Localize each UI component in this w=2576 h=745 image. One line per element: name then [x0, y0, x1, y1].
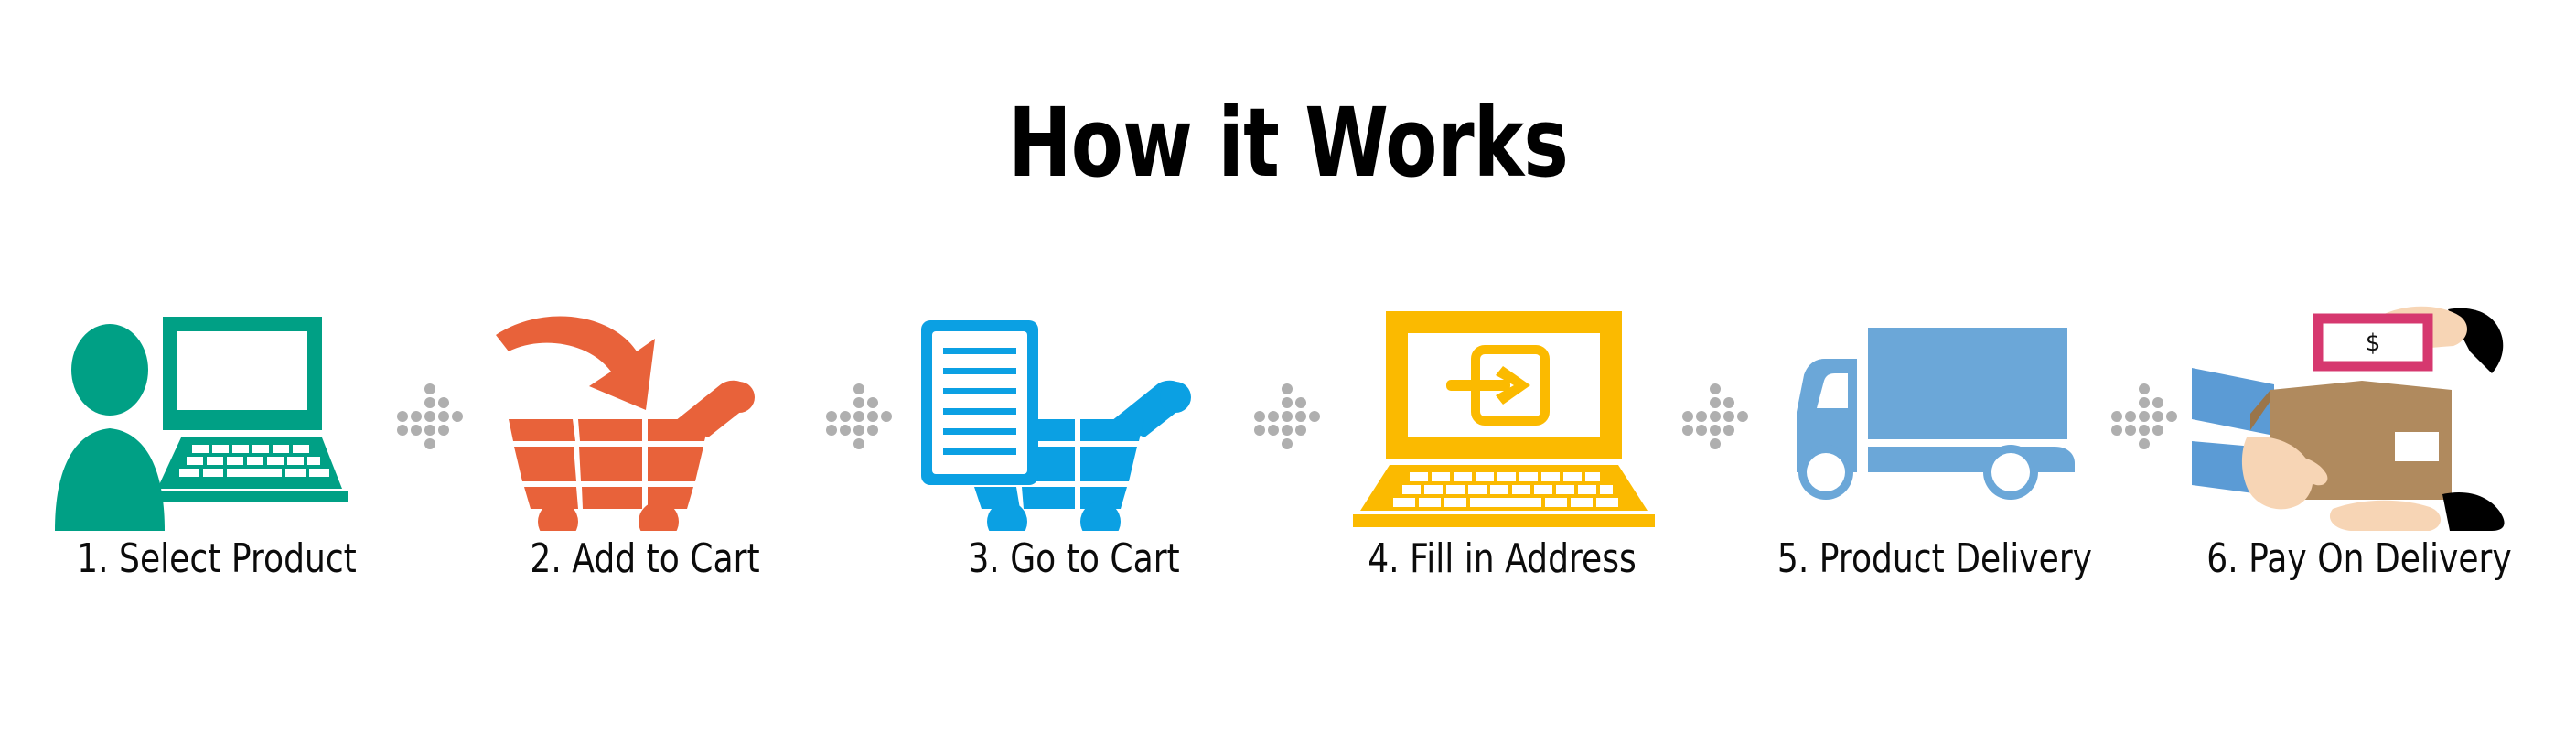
step-6-icon-area: $	[2190, 302, 2528, 531]
step-3-go-to-cart[interactable]: 3. Go to Cart	[905, 302, 1243, 613]
delivery-truck-icon	[1762, 302, 2100, 531]
cash-on-delivery-icon: $	[2190, 302, 2528, 531]
step-1-select-product[interactable]: 1. Select Product	[48, 302, 386, 613]
page-title: How it Works	[258, 95, 2319, 190]
box-lid-shape	[2270, 381, 2452, 401]
step-6-pay-on-delivery[interactable]: $ 6. Pay On Delivery	[2190, 302, 2528, 613]
separator-1	[387, 302, 475, 531]
banknote-dollar-symbol: $	[2366, 329, 2381, 357]
dotted-arrow-right-icon	[823, 383, 896, 450]
step-5-icon-area	[1762, 302, 2100, 531]
separator-4	[1672, 302, 1760, 531]
box-label-shape	[2395, 432, 2439, 461]
cart-with-incoming-arrow-icon	[476, 302, 814, 531]
step-2-label: 2. Add to Cart	[491, 535, 799, 583]
step-2-add-to-cart[interactable]: 2. Add to Cart	[476, 302, 814, 613]
step-1-label: 1. Select Product	[63, 535, 370, 583]
step-3-icon-area	[905, 302, 1243, 531]
dotted-arrow-right-icon	[394, 383, 467, 450]
laptop-login-form-icon	[1333, 302, 1671, 531]
dotted-arrow-right-icon	[1680, 383, 1753, 450]
step-4-label: 4. Fill in Address	[1348, 535, 1656, 583]
step-4-fill-in-address[interactable]: 4. Fill in Address	[1333, 302, 1671, 613]
step-3-label: 3. Go to Cart	[920, 535, 1228, 583]
person-at-laptop-icon	[48, 302, 386, 531]
step-2-icon-area	[476, 302, 814, 531]
step-6-label: 6. Pay On Delivery	[2206, 535, 2513, 583]
dotted-arrow-right-icon	[1251, 383, 1325, 450]
infographic-canvas: How it Works	[0, 0, 2576, 745]
lower-hand-shape	[2330, 501, 2441, 531]
step-5-label: 5. Product Delivery	[1776, 535, 2084, 583]
separator-5	[2101, 302, 2189, 531]
cart-with-document-icon	[905, 302, 1243, 531]
step-5-product-delivery[interactable]: 5. Product Delivery	[1762, 302, 2100, 613]
separator-2	[816, 302, 904, 531]
step-4-icon-area	[1333, 302, 1671, 531]
step-1-icon-area	[48, 302, 386, 531]
dotted-arrow-right-icon	[2109, 383, 2182, 450]
lower-sleeve-shape	[2442, 492, 2505, 531]
separator-3	[1244, 302, 1332, 531]
steps-flow: 1. Select Product	[48, 302, 2528, 613]
